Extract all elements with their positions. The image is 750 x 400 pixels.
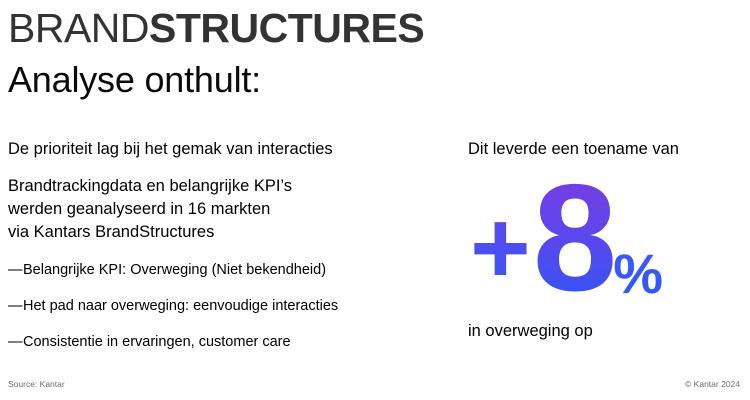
percent-sign-icon: % [613,246,662,302]
list-item: — Consistentie in ervaringen, customer c… [8,333,460,352]
em-dash-icon: — [8,333,23,352]
paragraph-line: via Kantars BrandStructures [8,221,460,244]
em-dash-icon: — [8,297,23,316]
em-dash-icon: — [8,261,23,280]
left-content-column: De prioriteit lag bij het gemak van inte… [8,138,460,352]
stat-caption-bottom: in overweging op [468,320,742,342]
stat-figure: + 8 % [468,168,742,308]
footer-copyright: © Kantar 2024 [685,379,740,390]
list-item-label: Het pad naar overweging: eenvoudige inte… [23,297,338,316]
brand-name-light: BRAND [8,5,149,51]
stat-value: 8 [533,168,616,308]
brand-name-bold: STRUCTURES [149,5,424,51]
right-statistic-column: Dit leverde een toename van + 8 % in ove… [468,138,742,342]
list-item: — Het pad naar overweging: eenvoudige in… [8,297,460,316]
footer-source: Source: Kantar [8,379,65,390]
list-item-label: Belangrijke KPI: Overweging (Niet bekend… [23,261,326,280]
list-item: — Belangrijke KPI: Overweging (Niet beke… [8,261,460,280]
slide-canvas: BRANDSTRUCTURES Analyse onthult: De prio… [0,0,750,400]
findings-list: — Belangrijke KPI: Overweging (Niet beke… [8,261,460,352]
page-title: Analyse onthult: [8,58,261,102]
list-item-label: Consistentie in ervaringen, customer car… [23,333,291,352]
methodology-paragraph: Brandtrackingdata en belangrijke KPI’s w… [8,175,460,244]
paragraph-line: werden geanalyseerd in 16 markten [8,198,460,221]
lead-statement: De prioriteit lag bij het gemak van inte… [8,138,460,160]
brand-logo: BRANDSTRUCTURES [8,4,424,52]
paragraph-line: Brandtrackingdata en belangrijke KPI’s [8,175,460,198]
plus-sign-icon: + [470,196,529,300]
